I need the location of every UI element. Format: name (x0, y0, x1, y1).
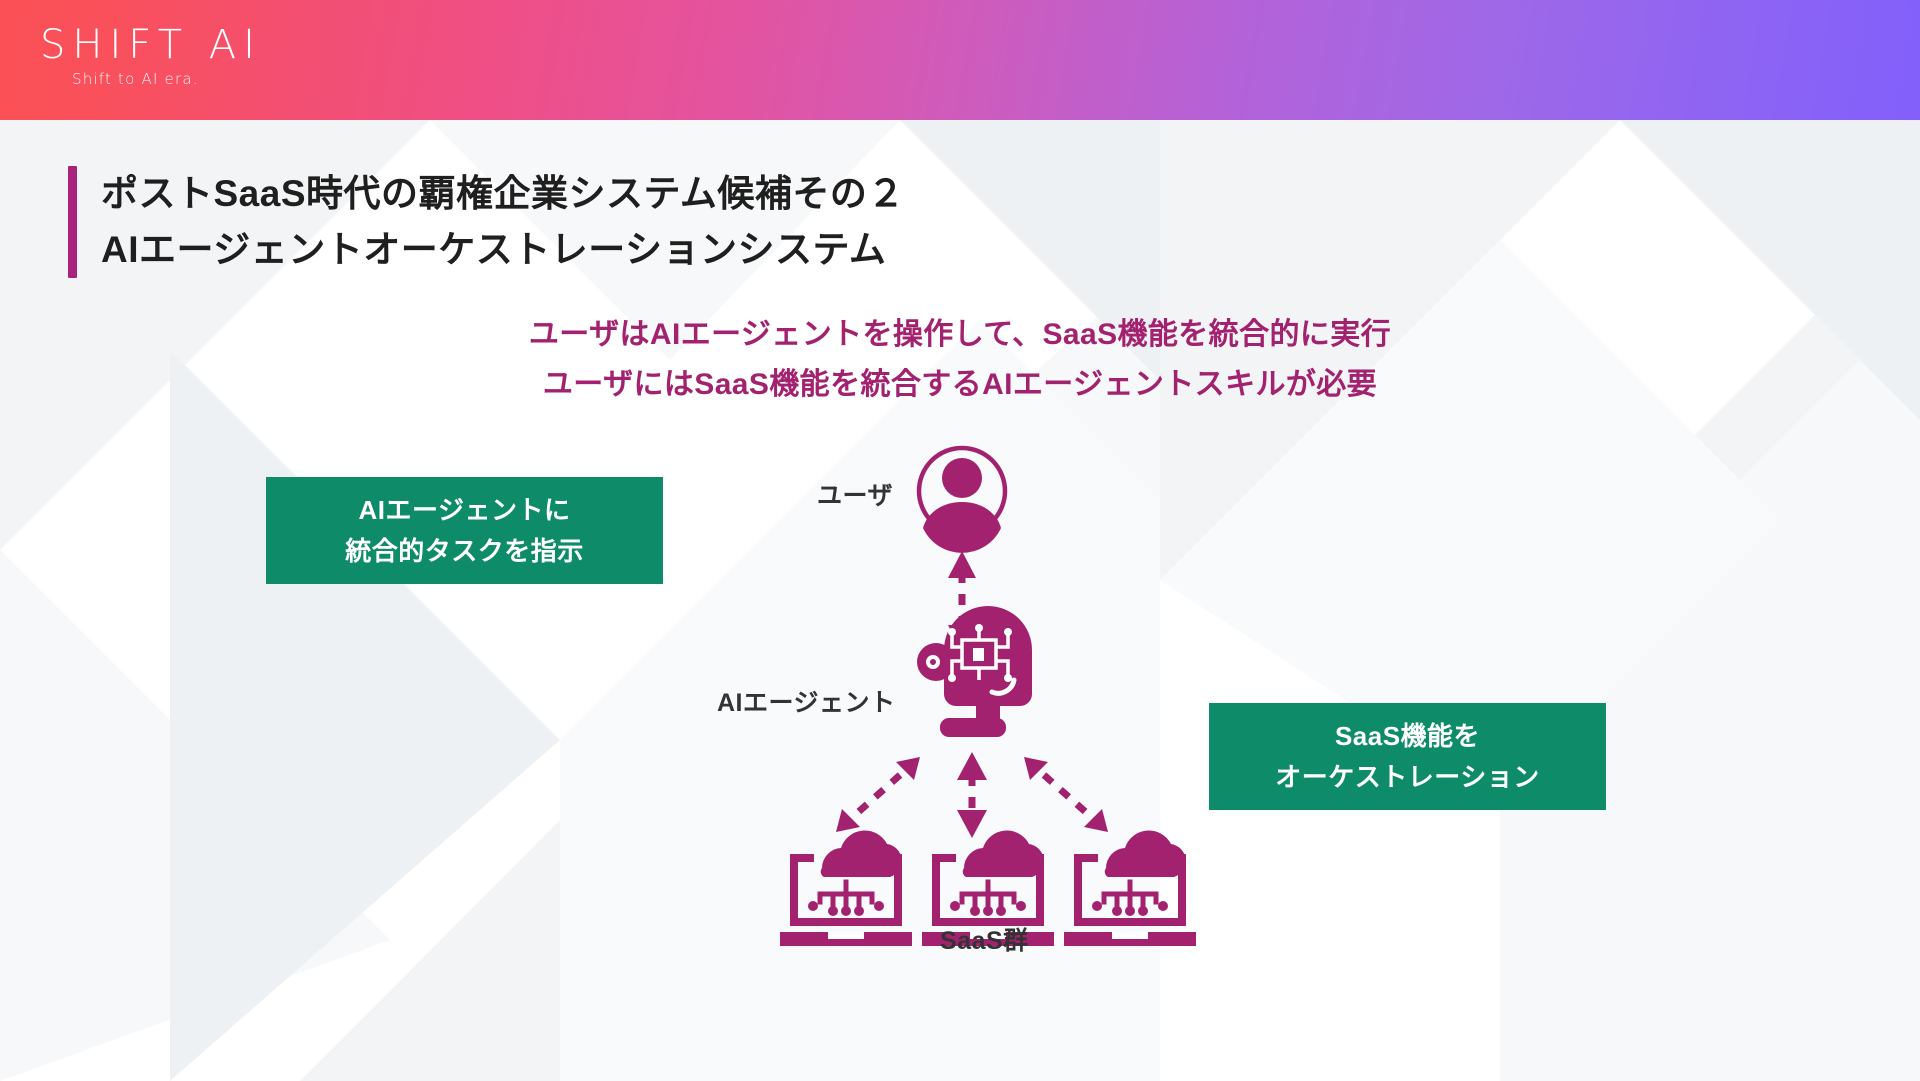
cloud-laptop-icon-3 (1064, 831, 1196, 946)
logo-wordmark: SHIFT AI (40, 22, 300, 68)
callout-left-line-1: AIエージェントに (359, 490, 571, 531)
arrowhead-to-saas-right (1084, 809, 1108, 832)
subtitle-line-2: ユーザにはSaaS機能を統合するAIエージェントスキルが必要 (0, 360, 1920, 410)
page-title: ポストSaaS時代の覇権企業システム候補その２ AIエージェントオーケストレーシ… (68, 166, 905, 278)
callout-left-line-2: 統合的タスクを指示 (345, 531, 584, 572)
arrowhead-to-agent-center (957, 752, 987, 780)
arrowhead-down-agent (948, 625, 976, 652)
title-line-2: AIエージェントオーケストレーションシステム (101, 222, 905, 278)
node-label-agent: AIエージェント (717, 683, 896, 719)
logo-tagline: Shift to AI era. (72, 70, 300, 88)
arrowhead-to-agent-right (1024, 757, 1048, 780)
node-label-saas: SaaS群 (940, 921, 1029, 957)
title-accent-bar (68, 166, 77, 278)
arrowhead-to-saas-left (836, 809, 860, 832)
logo[interactable]: SHIFT AI Shift to AI era. (40, 22, 300, 98)
arrowhead-to-saas-center (957, 810, 987, 838)
callout-right-line-2: オーケストレーション (1275, 757, 1539, 798)
callout-instruct-agent: AIエージェントに 統合的タスクを指示 (266, 477, 663, 584)
slide-root: SHIFT AI Shift to AI era. ポストSaaS時代の覇権企業… (0, 0, 1920, 1081)
ai-robot-head-icon (917, 606, 1032, 737)
arrow-agent-saas-left (855, 775, 900, 815)
node-label-user: ユーザ (817, 476, 893, 512)
callout-right-line-1: SaaS機能を (1335, 716, 1480, 757)
title-lines: ポストSaaS時代の覇権企業システム候補その２ AIエージェントオーケストレーシ… (101, 166, 905, 278)
user-avatar-icon (919, 448, 1005, 553)
subtitle-line-1: ユーザはAIエージェントを操作して、SaaS機能を統合的に実行 (0, 310, 1920, 360)
arrowhead-up-user (948, 551, 976, 578)
title-line-1: ポストSaaS時代の覇権企業システム候補その２ (101, 166, 905, 222)
header-band: SHIFT AI Shift to AI era. (0, 0, 1920, 120)
callout-orchestrate-saas: SaaS機能を オーケストレーション (1209, 703, 1606, 810)
cloud-laptop-icon-1 (780, 831, 912, 946)
arrow-agent-saas-right (1044, 775, 1089, 815)
subtitle: ユーザはAIエージェントを操作して、SaaS機能を統合的に実行 ユーザにはSaa… (0, 310, 1920, 410)
arrowhead-to-agent-left (896, 757, 920, 780)
